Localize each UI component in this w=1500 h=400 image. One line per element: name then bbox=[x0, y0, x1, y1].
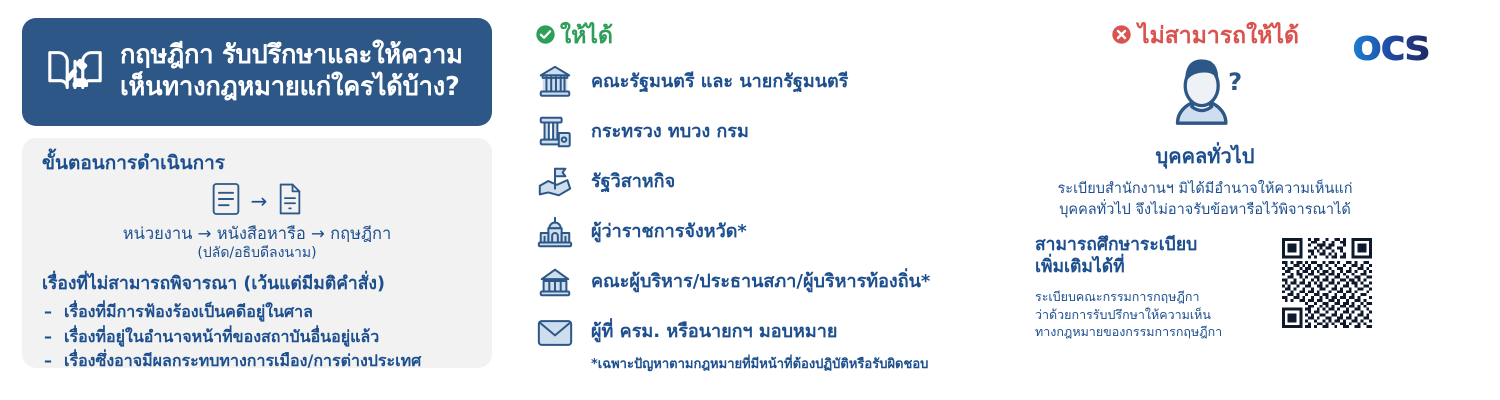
list-item-label: ผู้ที่ ครม. หรือนายกฯ มอบหมาย bbox=[591, 321, 837, 343]
list-item: กระทรวง ทบวง กรม bbox=[535, 107, 1035, 157]
list-item: คณะผู้บริหาร/ประธานสภา/ผู้บริหารท้องถิ่น… bbox=[535, 257, 1035, 307]
envelope-icon bbox=[535, 312, 575, 352]
qr-code-icon[interactable] bbox=[1279, 235, 1375, 331]
flow-subcaption: (ปลัด/อธิบดีลงนาม) bbox=[42, 244, 472, 262]
ocs-logo-text: ocs bbox=[1352, 22, 1429, 70]
not-allowed-description: ระเบียบสำนักงานฯ มิได้มีอำนาจให้ความเห็น… bbox=[1035, 179, 1375, 221]
study-more-title: สามารถศึกษาระเบียบ เพิ่มเติมได้ที่ bbox=[1035, 235, 1271, 279]
study-sub-line-2: ว่าด้วยการรับปรึกษาให้ความเห็น bbox=[1035, 306, 1271, 324]
list-item: ผู้ว่าราชการจังหวัด* bbox=[535, 207, 1035, 257]
allowed-footnote: *เฉพาะปัญหาตามกฎหมายที่มีหน้าที่ต้องปฏิบ… bbox=[591, 353, 1035, 374]
list-item-label: เรื่องซึ่งอาจมีผลกระทบทางการเมือง/การต่า… bbox=[64, 351, 421, 370]
list-item-label: คณะผู้บริหาร/ประธานสภา/ผู้บริหารท้องถิ่น… bbox=[591, 271, 930, 293]
list-item: –เรื่องซึ่งอาจมีผลกระทบทางการเมือง/การต่… bbox=[42, 349, 472, 373]
process-flow-icons: → bbox=[42, 181, 472, 221]
title-card: กฤษฎีกา รับปรึกษาและให้ความ เห็นทางกฎหมา… bbox=[22, 18, 492, 126]
document-page-icon bbox=[277, 182, 303, 220]
steps-heading: ขั้นตอนการดำเนินการ bbox=[42, 152, 472, 175]
flag-territory-icon bbox=[535, 162, 575, 202]
person-illustration: ? bbox=[1035, 55, 1375, 136]
study-title-line-1: สามารถศึกษาระเบียบ bbox=[1035, 235, 1271, 257]
bullet-dash: – bbox=[44, 349, 52, 373]
allowed-header: ให้ได้ bbox=[535, 24, 1035, 49]
study-more-block: สามารถศึกษาระเบียบ เพิ่มเติมได้ที่ ระเบี… bbox=[1035, 235, 1375, 341]
person-label: บุคคลทั่วไป bbox=[1035, 140, 1375, 172]
list-item-label: เรื่องที่มีการฟ้องร้องเป็นคดีอยู่ในศาล bbox=[64, 302, 313, 321]
flow-caption: หน่วยงาน → หนังสือหารือ → กฤษฎีกา bbox=[42, 223, 472, 244]
allowed-heading: ให้ได้ bbox=[560, 25, 613, 48]
document-lines-icon bbox=[211, 181, 241, 221]
book-gavel-icon bbox=[44, 41, 106, 103]
list-item: รัฐวิสาหกิจ bbox=[535, 157, 1035, 207]
list-item: ผู้ที่ ครม. หรือนายกฯ มอบหมาย bbox=[535, 307, 1035, 357]
list-item-label: คณะรัฐมนตรี และ นายกรัฐมนตรี bbox=[591, 71, 848, 93]
local-government-icon bbox=[535, 262, 575, 302]
study-more-text: สามารถศึกษาระเบียบ เพิ่มเติมได้ที่ ระเบี… bbox=[1035, 235, 1271, 341]
flow-arrow-icon: → bbox=[251, 191, 268, 211]
ocs-logo: ocs bbox=[1350, 22, 1478, 70]
ministry-pillar-icon bbox=[535, 112, 575, 152]
description-line-2: บุคคลทั่วไป จึงไม่อาจรับข้อหารือไว้พิจาร… bbox=[1035, 200, 1375, 221]
list-item-label: ผู้ว่าราชการจังหวัด* bbox=[591, 221, 747, 243]
list-item: คณะรัฐมนตรี และ นายกรัฐมนตรี bbox=[535, 57, 1035, 107]
infographic-root: กฤษฎีกา รับปรึกษาและให้ความ เห็นทางกฎหมา… bbox=[0, 0, 1500, 400]
list-item: –เรื่องที่อยู่ในอำนาจหน้าที่ของสถาบันอื่… bbox=[42, 325, 472, 349]
bullet-dash: – bbox=[44, 325, 52, 349]
page-title: กฤษฎีกา รับปรึกษาและให้ความ เห็นทางกฎหมา… bbox=[120, 40, 463, 104]
study-sub-line-1: ระเบียบคณะกรรมการกฤษฎีกา bbox=[1035, 288, 1271, 306]
not-allowed-header: ไม่สามารถให้ได้ bbox=[1035, 24, 1375, 49]
study-title-line-2: เพิ่มเติมได้ที่ bbox=[1035, 257, 1271, 279]
not-allowed-heading: ไม่สามารถให้ได้ bbox=[1138, 25, 1299, 48]
check-circle-icon bbox=[535, 24, 556, 49]
list-item-label: เรื่องที่อยู่ในอำนาจหน้าที่ของสถาบันอื่น… bbox=[64, 327, 379, 346]
left-column: กฤษฎีกา รับปรึกษาและให้ความ เห็นทางกฎหมา… bbox=[22, 18, 492, 382]
classical-building-icon bbox=[535, 62, 575, 102]
person-question-icon: ? bbox=[1162, 55, 1248, 136]
study-sub-line-3: ทางกฎหมายของกรรมการกฤษฎีกา bbox=[1035, 323, 1271, 341]
list-item: –เรื่องที่มีการฟ้องร้องเป็นคดีอยู่ในศาล bbox=[42, 300, 472, 324]
list-item-label: กระทรวง ทบวง กรม bbox=[591, 121, 749, 143]
list-item-label: รัฐวิสาหกิจ bbox=[591, 171, 675, 193]
provincial-hall-icon bbox=[535, 212, 575, 252]
exclusions-heading: เรื่องที่ไม่สามารถพิจารณา (เว้นแต่มีมติค… bbox=[42, 274, 472, 296]
x-circle-icon bbox=[1111, 24, 1132, 49]
not-allowed-column: ไม่สามารถให้ได้ ? บุคคลทั่วไป ระเบียบสำน… bbox=[1035, 24, 1375, 341]
bullet-dash: – bbox=[44, 300, 52, 324]
title-line-2: เห็นทางกฎหมายแก่ใครได้บ้าง? bbox=[120, 72, 463, 104]
description-line-1: ระเบียบสำนักงานฯ มิได้มีอำนาจให้ความเห็น… bbox=[1035, 179, 1375, 200]
svg-text:?: ? bbox=[1228, 68, 1242, 96]
study-more-subtitle: ระเบียบคณะกรรมการกฤษฎีกา ว่าด้วยการรับปร… bbox=[1035, 288, 1271, 341]
allowed-column: ให้ได้ bbox=[535, 24, 1035, 374]
exclusions-list: –เรื่องที่มีการฟ้องร้องเป็นคดีอยู่ในศาล … bbox=[42, 300, 472, 373]
title-line-1: กฤษฎีกา รับปรึกษาและให้ความ bbox=[120, 40, 463, 72]
allowed-list: คณะรัฐมนตรี และ นายกรัฐมนตรี bbox=[535, 57, 1035, 357]
steps-panel: ขั้นตอนการดำเนินการ → bbox=[22, 138, 492, 368]
